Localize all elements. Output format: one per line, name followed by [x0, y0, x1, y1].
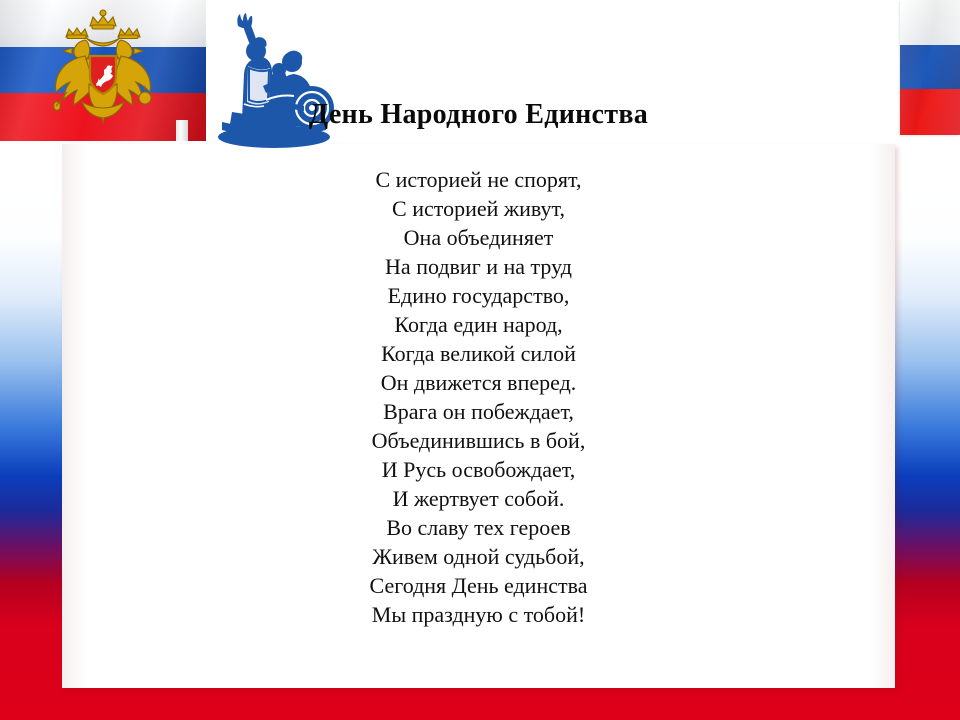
russian-flag-corner-image	[900, 0, 960, 135]
poem-line: Живем одной судьбой,	[62, 542, 895, 571]
poem-line: С историей не спорят,	[62, 165, 895, 194]
poem-line: Она объединяет	[62, 223, 895, 252]
poem-line: Мы праздную с тобой!	[62, 600, 895, 629]
poem-line: Когда великой силой	[62, 339, 895, 368]
poem-line: Объединившись в бой,	[62, 426, 895, 455]
poem-line: Едино государство,	[62, 281, 895, 310]
poem-line: Сегодня День единства	[62, 571, 895, 600]
poem-line: На подвиг и на труд	[62, 252, 895, 281]
poem-line: Он движется вперед.	[62, 368, 895, 397]
poem-line: И жертвует собой.	[62, 484, 895, 513]
poem-line: И Русь освобождает,	[62, 455, 895, 484]
poem-line: Когда един народ,	[62, 310, 895, 339]
slide-canvas: День Народного Единства С историей не сп…	[0, 0, 960, 720]
poem-text: С историей не спорят, С историей живут, …	[62, 165, 895, 629]
page-title: День Народного Единства	[62, 98, 895, 132]
poem-line: Во славу тех героев	[62, 513, 895, 542]
poem-line: Врага он побеждает,	[62, 397, 895, 426]
corner-flag-fold-shading	[900, 0, 960, 135]
poem-line: С историей живут,	[62, 194, 895, 223]
saint-george-shield-icon	[90, 56, 116, 94]
